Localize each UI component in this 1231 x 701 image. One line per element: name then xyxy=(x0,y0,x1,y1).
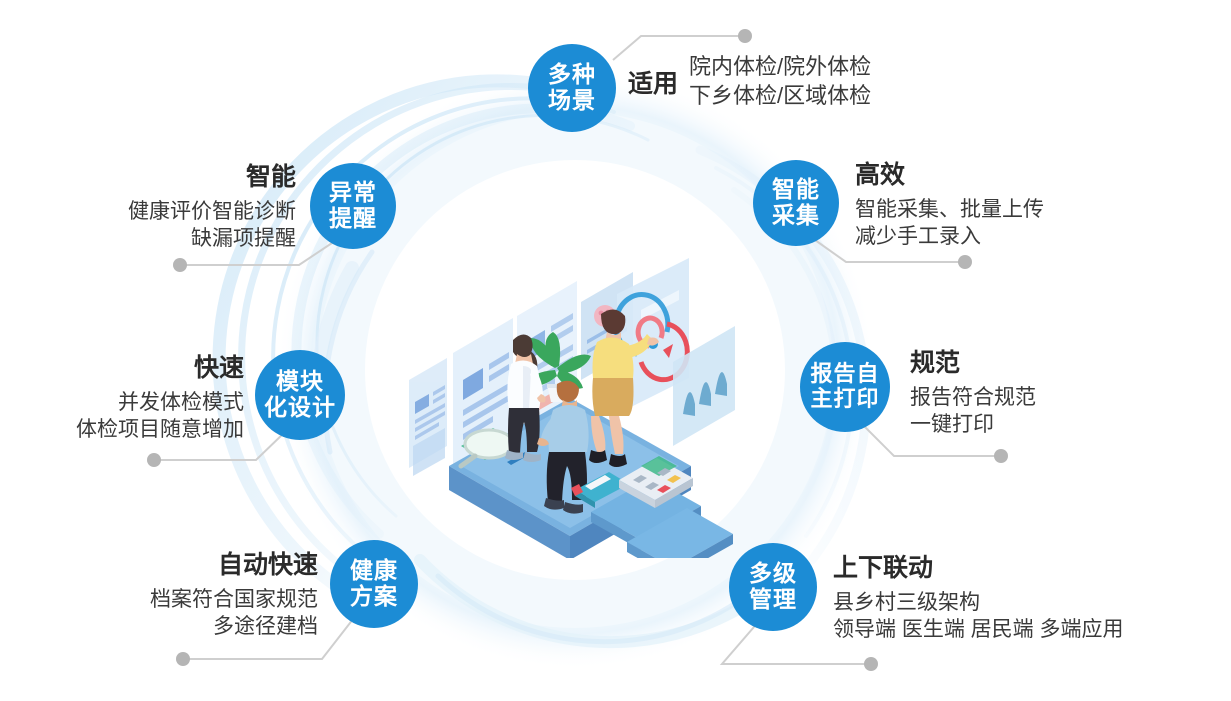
node-body-line: 报告符合规范 xyxy=(910,384,1036,411)
central-illustration xyxy=(405,258,735,558)
node-text-abnormal-alert: 智能 健康评价智能诊断 缺漏项提醒 xyxy=(0,157,296,253)
connector-dot xyxy=(173,258,187,272)
node-body-line: 档案符合国家规范 xyxy=(0,586,318,613)
node-circle-report-self-print[interactable]: 报告自 主打印 xyxy=(800,342,890,432)
node-circle-line: 采集 xyxy=(772,203,820,229)
node-body-line: 缺漏项提醒 xyxy=(0,225,296,252)
node-heading: 智能 xyxy=(0,157,296,193)
patient-record-panel xyxy=(409,358,447,476)
node-circle-line: 方案 xyxy=(350,584,398,610)
node-text-report-self-print: 规范 报告符合规范 一键打印 xyxy=(910,343,1036,439)
node-circle-line: 报告自 xyxy=(810,362,879,387)
node-body-line: 领导端 医生端 居民端 多端应用 xyxy=(833,616,1124,643)
node-text-modular-design: 快速 并发体检模式 体检项目随意增加 xyxy=(0,348,244,444)
node-circle-multi-level-management[interactable]: 多级 管理 xyxy=(729,543,817,631)
node-body-line: 多途径建档 xyxy=(0,613,318,640)
node-circle-modular-design[interactable]: 模块 化设计 xyxy=(255,350,345,440)
node-text-multi-scene: 适用 院内体检/院外体检 下乡体检/区域体检 xyxy=(628,53,871,110)
node-circle-line: 场景 xyxy=(548,88,596,114)
infographic-stage: 多种 场景 适用 院内体检/院外体检 下乡体检/区域体检 异常 提醒 智能 健康… xyxy=(0,0,1231,701)
node-body-line: 一键打印 xyxy=(910,411,1036,438)
node-heading: 快速 xyxy=(0,348,244,384)
connector-dot xyxy=(864,657,878,671)
node-body-line: 体检项目随意增加 xyxy=(0,416,244,443)
node-circle-line: 智能 xyxy=(772,177,820,203)
node-circle-line: 多种 xyxy=(548,62,596,88)
node-body-line: 减少手工录入 xyxy=(855,223,1044,250)
node-circle-line: 管理 xyxy=(749,587,797,613)
node-body-line: 智能采集、批量上传 xyxy=(855,196,1044,223)
node-heading: 自动快速 xyxy=(0,545,318,581)
node-heading: 适用 xyxy=(628,64,678,100)
node-circle-line: 模块 xyxy=(276,369,324,395)
node-body-line: 县乡村三级架构 xyxy=(833,589,1124,616)
node-circle-line: 异常 xyxy=(329,180,377,206)
node-text-smart-collect: 高效 智能采集、批量上传 减少手工录入 xyxy=(855,155,1044,251)
node-circle-line: 提醒 xyxy=(329,206,377,232)
connector-dot xyxy=(176,652,190,666)
node-circle-line: 主打印 xyxy=(810,387,879,412)
node-body-line: 院内体检/院外体检 xyxy=(689,53,871,82)
connector-dot xyxy=(958,255,972,269)
node-text-multi-level-management: 上下联动 县乡村三级架构 领导端 医生端 居民端 多端应用 xyxy=(833,548,1124,644)
node-heading: 高效 xyxy=(855,155,1044,191)
node-heading: 上下联动 xyxy=(833,548,1124,584)
node-heading: 规范 xyxy=(910,343,1036,379)
node-body-line: 健康评价智能诊断 xyxy=(0,198,296,225)
node-circle-smart-collect[interactable]: 智能 采集 xyxy=(753,160,839,246)
connector-dot xyxy=(994,449,1008,463)
node-circle-line: 多级 xyxy=(749,561,797,587)
node-body-line: 并发体检模式 xyxy=(0,389,244,416)
node-circle-line: 化设计 xyxy=(264,395,336,421)
node-text-health-plan: 自动快速 档案符合国家规范 多途径建档 xyxy=(0,545,318,641)
node-body-line: 下乡体检/区域体检 xyxy=(689,82,871,111)
node-circle-line: 健康 xyxy=(350,558,398,584)
node-circle-health-plan[interactable]: 健康 方案 xyxy=(330,540,418,628)
node-circle-abnormal-alert[interactable]: 异常 提醒 xyxy=(310,163,396,249)
node-circle-multi-scene[interactable]: 多种 场景 xyxy=(528,44,616,132)
connector-dot xyxy=(147,453,161,467)
connector-dot xyxy=(738,29,752,43)
